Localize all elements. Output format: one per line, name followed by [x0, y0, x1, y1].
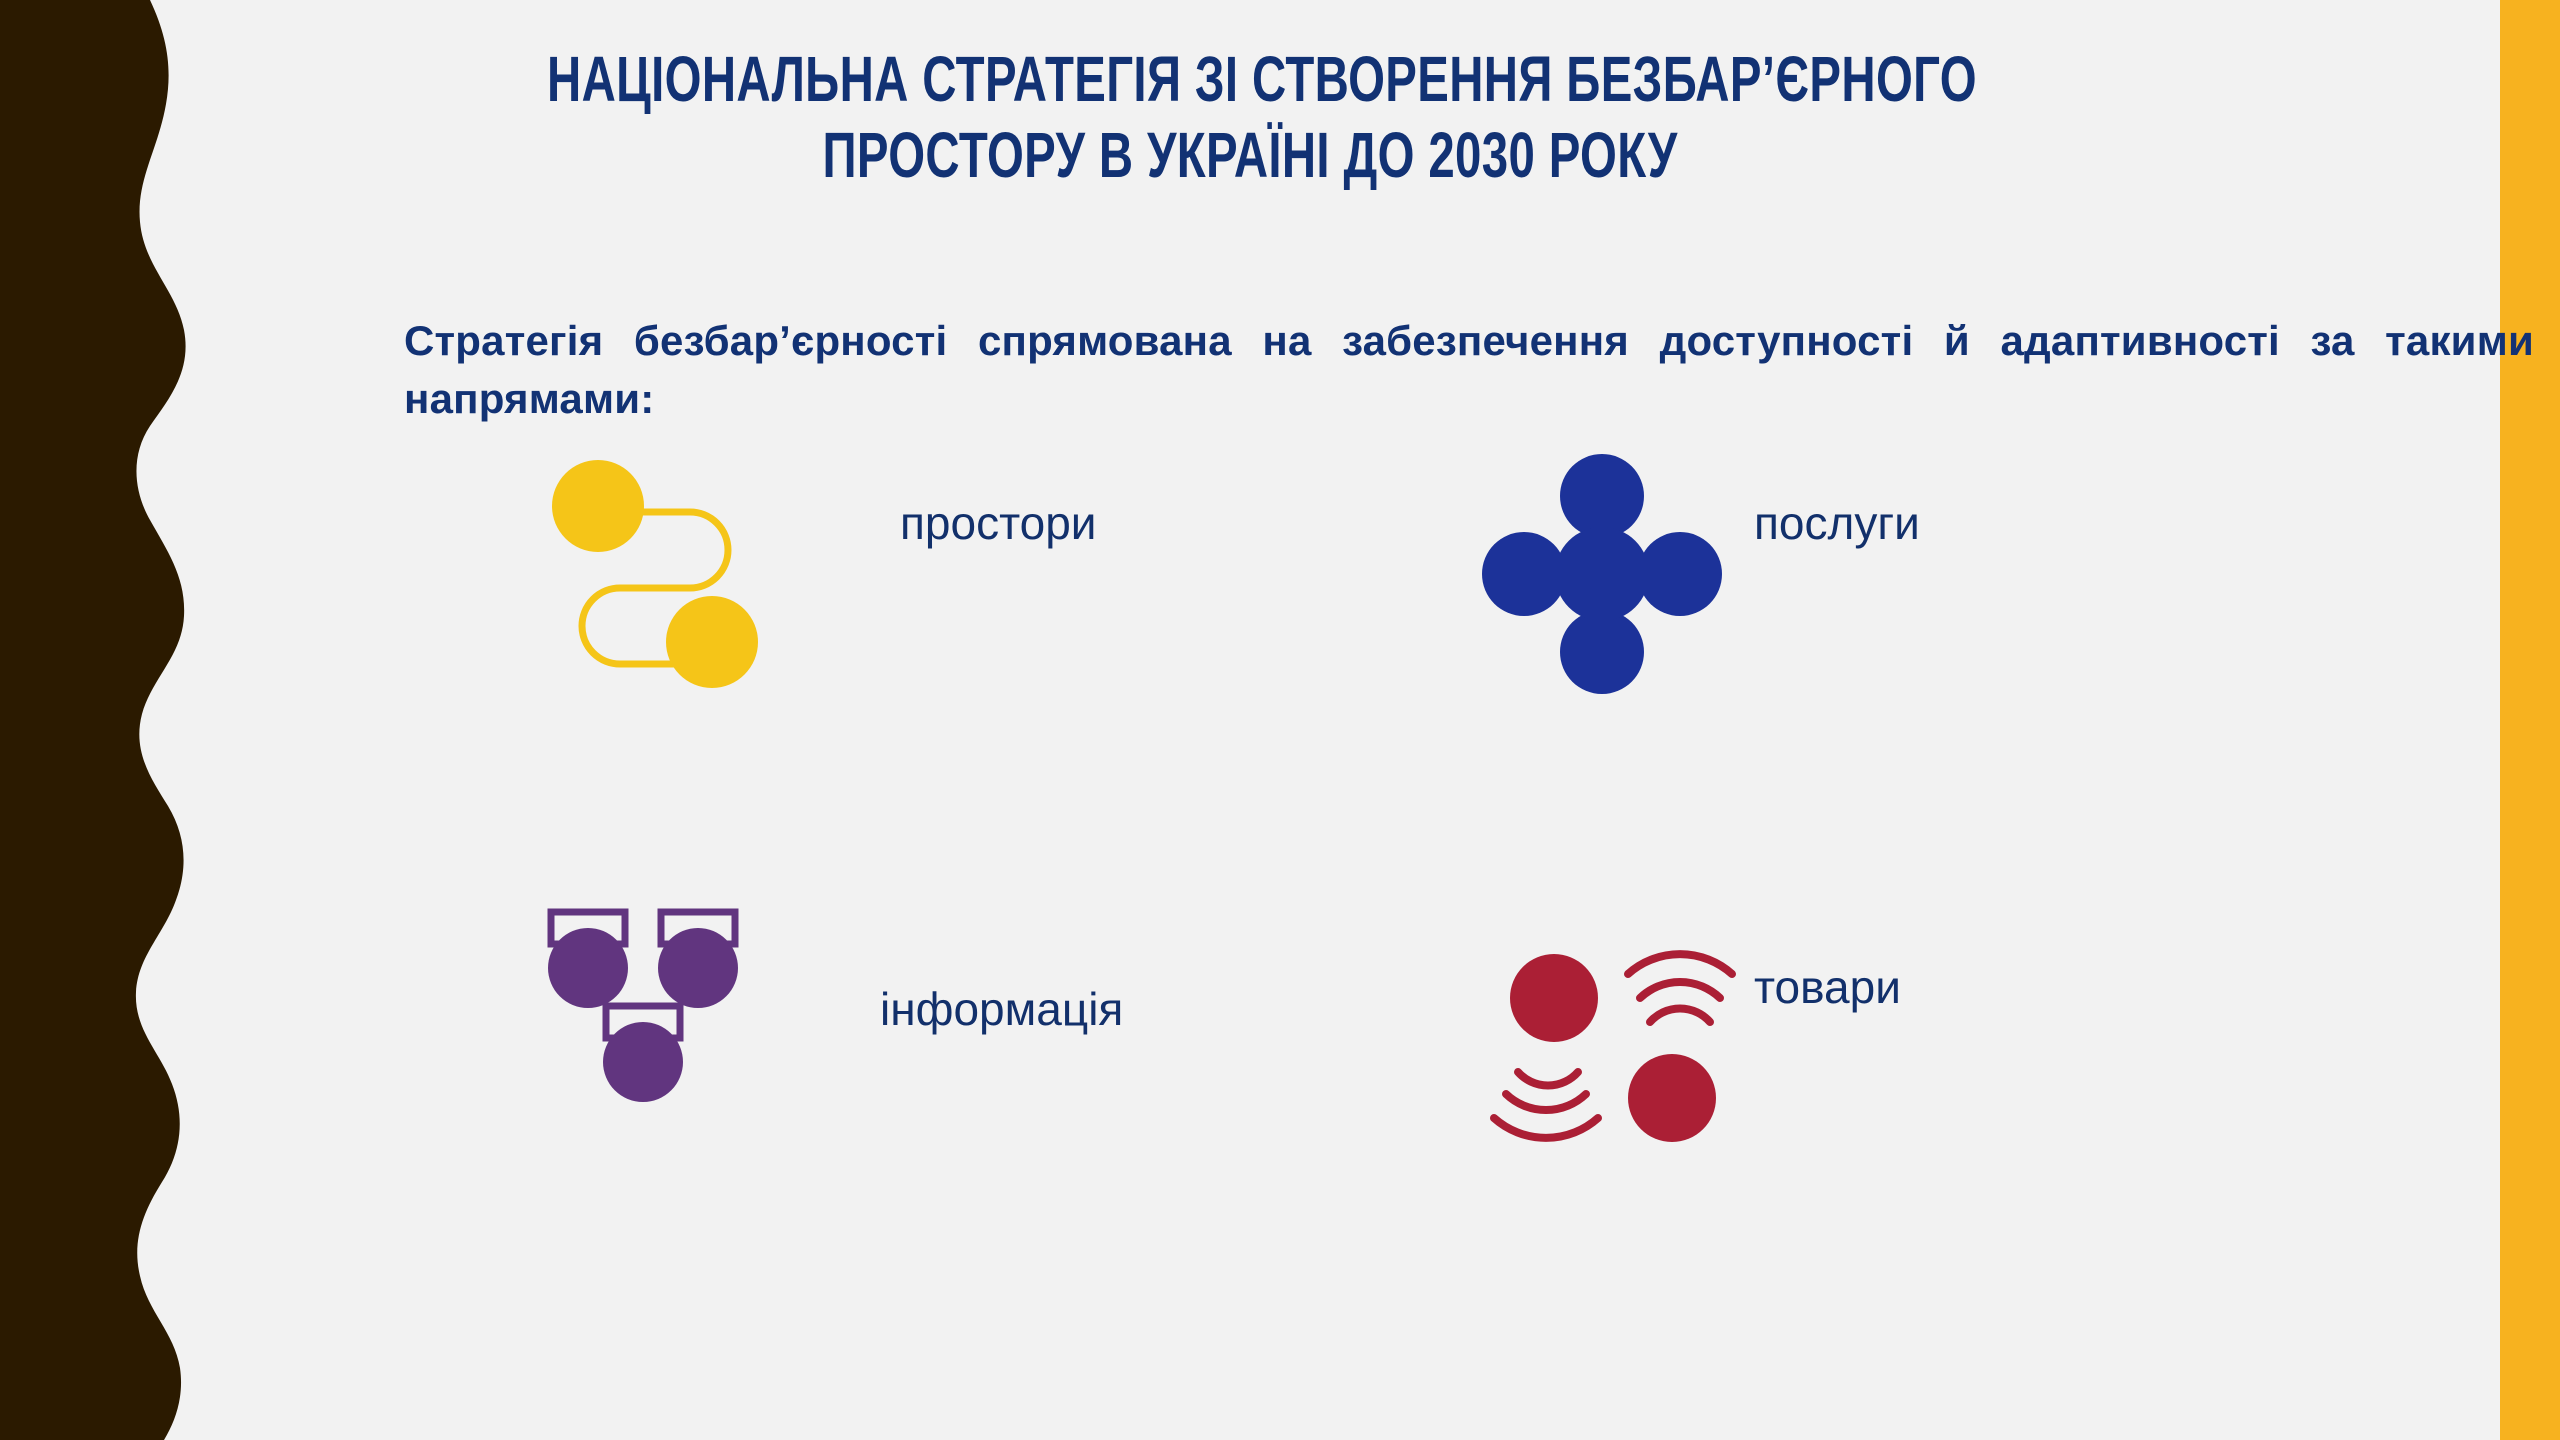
signal-waves-upper-right [1628, 954, 1732, 1022]
goods-dot-upper [1510, 954, 1598, 1042]
wavy-brown-edge-path [0, 0, 186, 1440]
three-nodes-screens-icon [540, 900, 770, 1115]
two-dots-signal-waves-icon [1492, 940, 1732, 1155]
wavy-brown-edge [0, 0, 210, 1440]
intro-paragraph: Стратегія безбар’єрності спрямована на з… [404, 312, 2534, 428]
direction-label-goods: товари [1754, 964, 1901, 1010]
direction-label-services: послуги [1754, 500, 1920, 546]
direction-label-spaces: простори [900, 500, 1097, 546]
path-two-dots-icon [540, 452, 770, 647]
slide-canvas: НАЦІОНАЛЬНА СТРАТЕГІЯ ЗІ СТВОРЕННЯ БЕЗБА… [0, 0, 2560, 1440]
node-dot-right [658, 928, 738, 1008]
page-title: НАЦІОНАЛЬНА СТРАТЕГІЯ ЗІ СТВОРЕННЯ БЕЗБА… [300, 42, 2200, 193]
direction-label-information: інформація [880, 986, 1123, 1032]
yellow-side-bar [2500, 0, 2560, 1440]
title-line-2: ПРОСТОРУ В УКРАЇНІ ДО 2030 РОКУ [547, 118, 1953, 194]
signal-waves-lower-left [1494, 1072, 1598, 1138]
path-dot-top [552, 460, 644, 552]
intro-text: Стратегія безбар’єрності спрямована на з… [404, 317, 2534, 422]
cross-dot-right [1638, 532, 1722, 616]
cross-dot-top [1560, 454, 1644, 538]
cross-dot-bottom [1560, 610, 1644, 694]
cross-dot-left [1482, 532, 1566, 616]
cross-dot-center [1555, 527, 1649, 621]
path-dot-bottom [666, 596, 758, 688]
node-dot-bottom [603, 1022, 683, 1102]
goods-dot-lower [1628, 1054, 1716, 1142]
node-dot-left [548, 928, 628, 1008]
five-dots-cross-icon [1492, 452, 1722, 657]
title-line-1: НАЦІОНАЛЬНА СТРАТЕГІЯ ЗІ СТВОРЕННЯ БЕЗБА… [547, 42, 1953, 118]
